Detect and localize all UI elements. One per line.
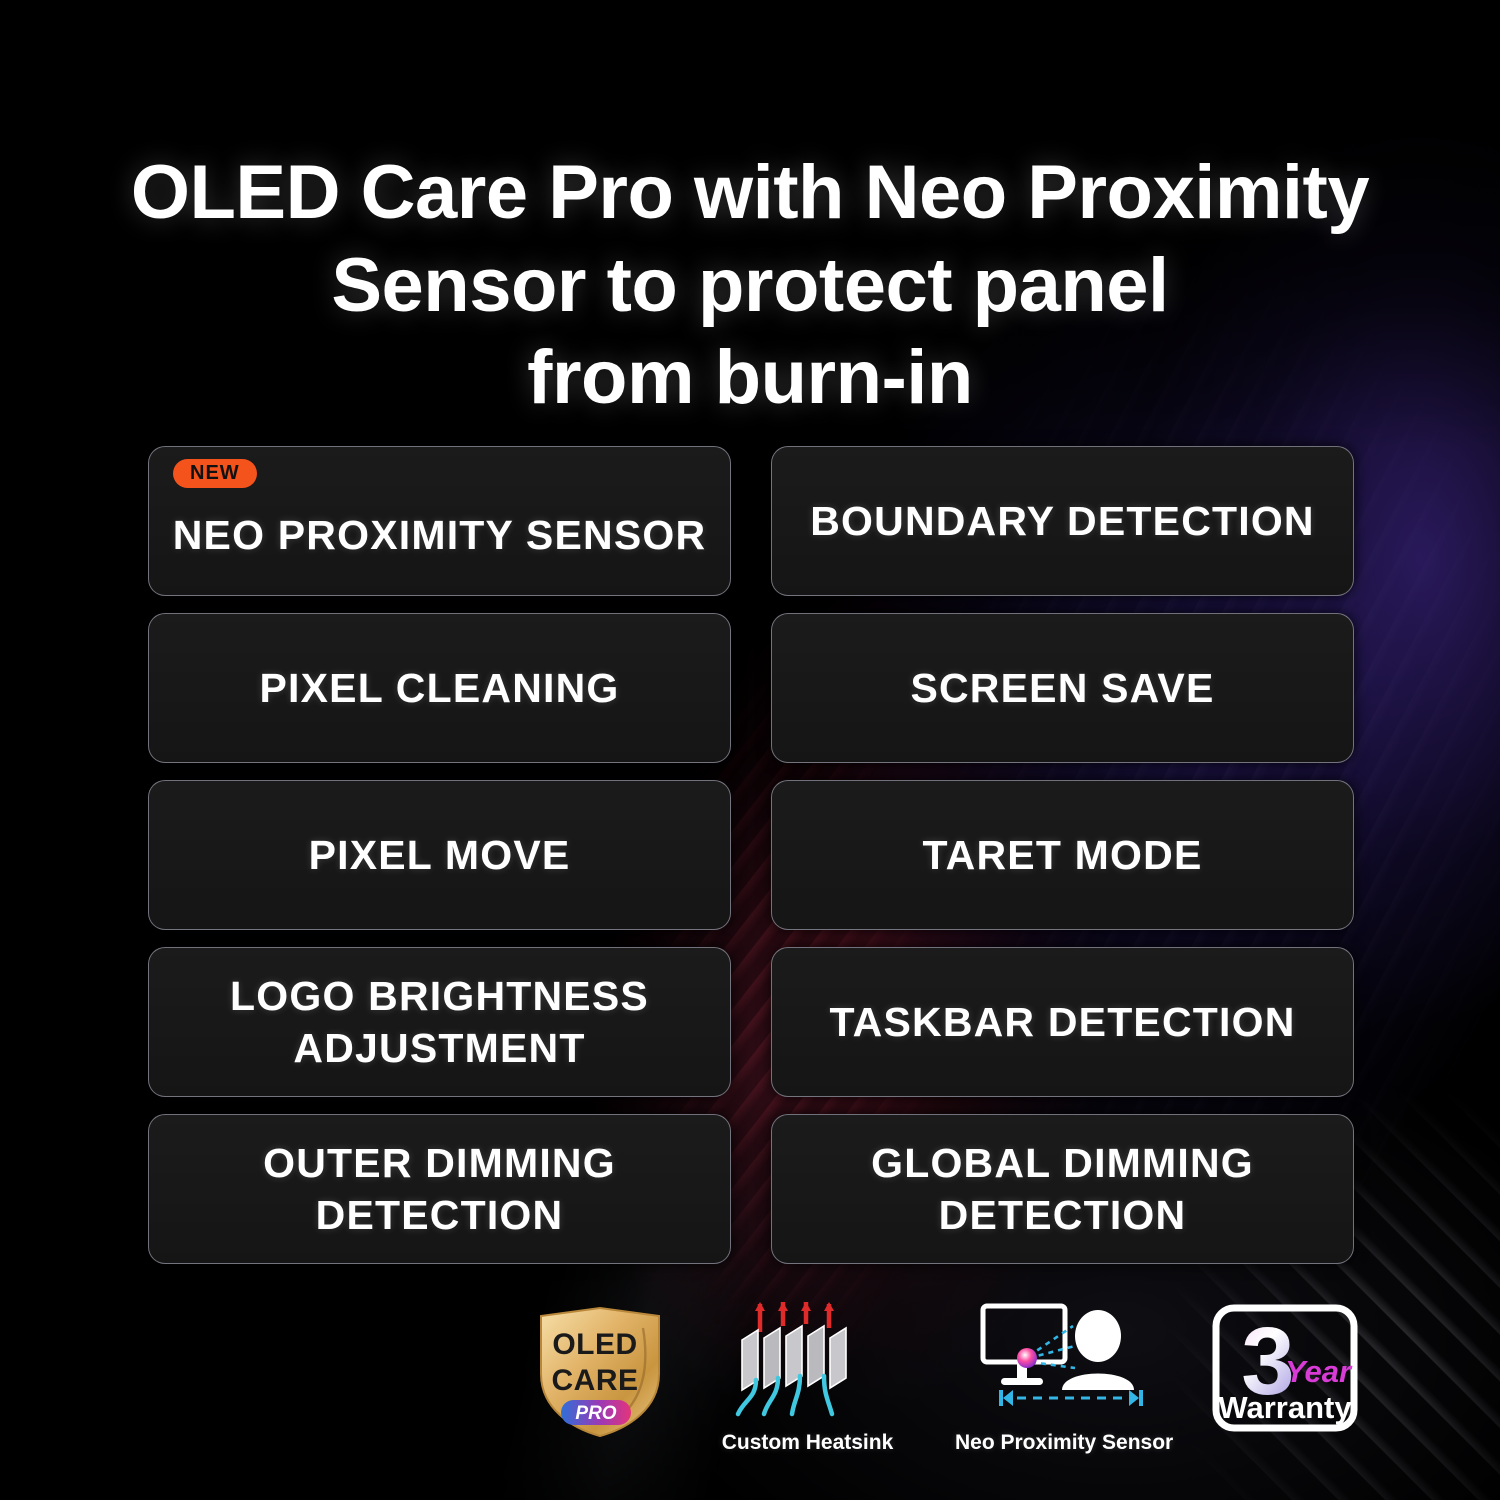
heatsink-icon — [720, 1302, 895, 1420]
feature-card-pixel-cleaning[interactable]: PIXEL CLEANING — [148, 613, 731, 763]
warranty-word-label: Warranty — [1218, 1390, 1352, 1425]
bottom-badge-row: OLED CARE PRO — [0, 1296, 1500, 1476]
feature-card-label: NEO PROXIMITY SENSOR — [155, 509, 725, 561]
warranty-badge-icon: 3 Year Warranty — [1210, 1302, 1360, 1434]
feature-card-label: OUTER DIMMING DETECTION — [245, 1137, 634, 1242]
proximity-sensor-caption: Neo Proximity Sensor — [955, 1431, 1155, 1455]
oled-care-line-1: OLED — [552, 1328, 637, 1361]
feature-card-global-dimming-detection[interactable]: GLOBAL DIMMING DETECTION — [771, 1114, 1354, 1264]
feature-card-label: GLOBAL DIMMING DETECTION — [853, 1137, 1272, 1242]
warranty-badge: 3 Year Warranty — [1205, 1302, 1365, 1439]
feature-card-logo-brightness-adjustment[interactable]: LOGO BRIGHTNESS ADJUSTMENT — [148, 947, 731, 1097]
feature-card-taret-mode[interactable]: TARET MODE — [771, 780, 1354, 930]
neo-proximity-sensor-badge: Neo Proximity Sensor — [955, 1298, 1155, 1455]
feature-card-taskbar-detection[interactable]: TASKBAR DETECTION — [771, 947, 1354, 1097]
feature-card-label: LOGO BRIGHTNESS ADJUSTMENT — [212, 970, 667, 1075]
heatsink-caption: Custom Heatsink — [720, 1431, 895, 1455]
feature-card-label: PIXEL MOVE — [291, 829, 589, 881]
page-title-line-2: Sensor to protect panel — [0, 240, 1500, 333]
new-badge: NEW — [173, 459, 257, 488]
feature-card-boundary-detection[interactable]: BOUNDARY DETECTION — [771, 446, 1354, 596]
feature-card-pixel-move[interactable]: PIXEL MOVE — [148, 780, 731, 930]
product-feature-poster: OLED Care Pro with Neo Proximity Sensor … — [0, 0, 1500, 1500]
proximity-sensor-icon — [955, 1298, 1155, 1420]
oled-care-line-2: CARE — [551, 1364, 638, 1397]
feature-card-neo-proximity-sensor[interactable]: NEW NEO PROXIMITY SENSOR — [148, 446, 731, 596]
feature-card-outer-dimming-detection[interactable]: OUTER DIMMING DETECTION — [148, 1114, 731, 1264]
feature-card-label: SCREEN SAVE — [892, 662, 1232, 714]
feature-card-screen-save[interactable]: SCREEN SAVE — [771, 613, 1354, 763]
page-title-line-1: OLED Care Pro with Neo Proximity — [0, 147, 1500, 240]
feature-card-label: PIXEL CLEANING — [241, 662, 637, 714]
shield-badge-icon: OLED CARE PRO — [525, 1302, 675, 1442]
custom-heatsink-badge: Custom Heatsink — [720, 1302, 895, 1455]
oled-care-pro-badge: OLED CARE PRO — [520, 1302, 680, 1447]
feature-card-label: BOUNDARY DETECTION — [792, 495, 1333, 547]
page-title: OLED Care Pro with Neo Proximity Sensor … — [0, 147, 1500, 425]
oled-care-pro-pill: PRO — [575, 1403, 616, 1424]
feature-grid: NEW NEO PROXIMITY SENSOR BOUNDARY DETECT… — [148, 446, 1354, 1264]
feature-card-label: TASKBAR DETECTION — [811, 996, 1313, 1048]
page-title-line-3: from burn-in — [0, 332, 1500, 425]
warranty-year-label: Year — [1285, 1354, 1353, 1389]
feature-card-label: TARET MODE — [904, 829, 1220, 881]
